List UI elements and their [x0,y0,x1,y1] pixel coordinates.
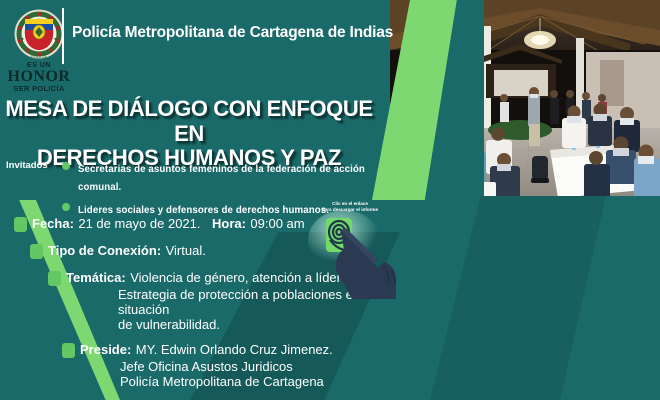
hora-group: Hora: 09:00 am [212,215,305,233]
hora-value: 09:00 am [250,216,304,231]
tematica-line-3: de vulnerabilidad. [118,317,400,332]
flyer-canvas: POLICIA ES UN HONOR SER POLICÍA Policía … [0,0,660,400]
honor-line-3: SER POLICÍA [4,85,74,93]
invitados-label: Invitados [6,160,48,171]
honor-line-2: HONOR [4,69,74,85]
preside-line-3: Policía Metropolitana de Cartagena [120,374,400,389]
tematica-label: Temática: [66,270,126,285]
bullet-square-icon [62,343,75,358]
detail-row-preside: Preside: MY. Edwin Orlando Cruz Jimenez.… [0,341,400,389]
bullet-square-icon [14,217,27,232]
hora-label: Hora: [212,216,246,231]
bullet-dot-icon [62,203,70,211]
fecha-label: Fecha: [32,216,74,231]
title-line-1: MESA DE DIÁLOGO CON ENFOQUE EN [0,97,378,146]
preside-value: MY. Edwin Orlando Cruz Jimenez. [136,342,333,357]
colombian-police-crest-icon: POLICIA [10,8,68,60]
organization-title: Policía Metropolitana de Cartagena de In… [72,24,393,42]
preside-line-2: Jefe Oficina Asustos Juridicos [120,359,400,374]
header-divider [62,8,64,64]
invitado-text: Secretarias de asuntos femeninos de la f… [78,164,365,193]
conexion-label: Tipo de Conexión: [48,243,161,258]
bullet-dot-icon [62,162,70,170]
bullet-square-icon [48,271,61,286]
list-item: Secretarias de asuntos femeninos de la f… [62,159,382,195]
bullet-square-icon [30,244,43,259]
fecha-value: 21 de mayo de 2021. [78,216,200,231]
honor-badge: ES UN HONOR SER POLICÍA [4,62,74,93]
conexion-value: Virtual. [166,243,206,258]
download-link-hint[interactable]: Clic en el enlace para descargar el info… [300,201,400,299]
preside-label: Preside: [80,342,131,357]
svg-text:POLICIA: POLICIA [31,54,47,59]
